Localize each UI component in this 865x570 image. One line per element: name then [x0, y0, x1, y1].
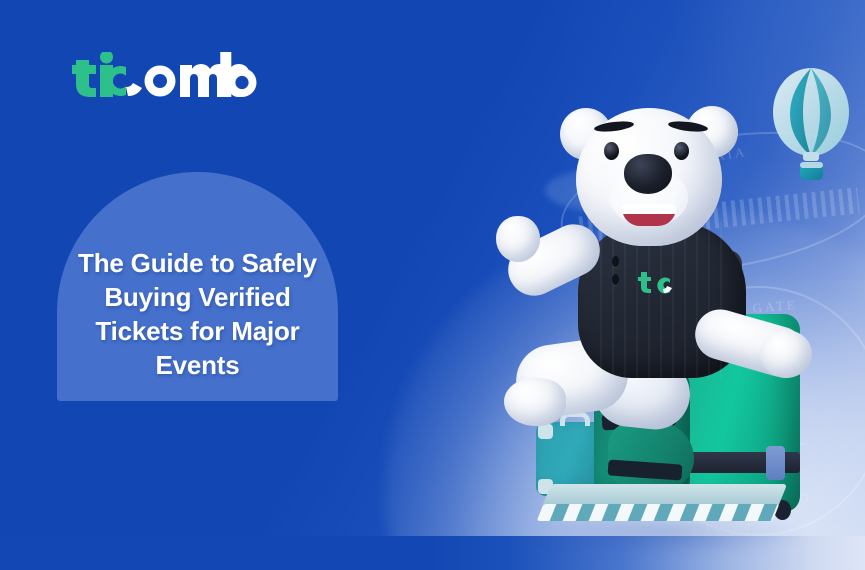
bear-eye-left	[604, 142, 619, 160]
shirt-tc-logo: tc	[638, 270, 680, 294]
suitcase-corner	[538, 424, 553, 439]
bear-nose	[624, 154, 672, 194]
page-title: The Guide to Safely Buying Verified Tick…	[57, 246, 338, 382]
logo-letter-o1-hole	[153, 74, 167, 88]
blog-hero-banner: VIENNA, AUSTRIA 2023 GOLDEN GATE SAN FRA…	[0, 0, 865, 570]
logo-letter-i-dot	[100, 52, 113, 64]
bear-eye-right	[674, 142, 689, 160]
hot-air-balloon-icon	[770, 64, 852, 184]
logo-letter-c-white	[126, 83, 142, 96]
shirt-button	[612, 274, 619, 285]
logo-letter-t	[72, 60, 96, 97]
bear-paw-right	[760, 330, 812, 378]
shirt-logo-t	[638, 272, 651, 293]
shirt-button	[612, 256, 619, 267]
ticombo-logo[interactable]: ticombo	[72, 52, 257, 98]
suitcase-buckle	[766, 446, 785, 480]
striped-platform-edge	[537, 504, 780, 521]
backpack-flap	[608, 422, 694, 490]
bear-paw-left	[496, 216, 540, 262]
logo-letter-o2-hole	[235, 76, 248, 89]
shirt-logo-c-white	[663, 286, 672, 293]
bear-foot-left	[504, 378, 566, 426]
logo-letter-c	[106, 66, 142, 96]
bear-mouth	[622, 204, 676, 226]
mascot-illustration: tc	[498, 86, 865, 556]
